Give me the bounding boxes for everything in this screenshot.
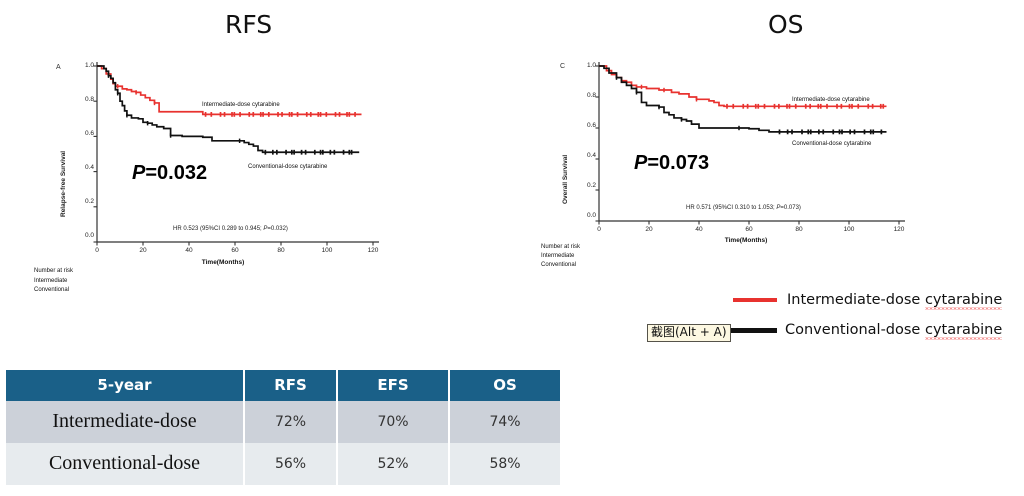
x-tick-6: 100 (840, 226, 858, 233)
risk-row-label-conventional-rfs: Conventional (34, 287, 69, 293)
p-number: =0.032 (145, 162, 207, 184)
risk-row-label-conventional-os: Conventional (541, 262, 576, 268)
p-number: =0.073 (647, 152, 709, 174)
legend-line-red-icon (733, 298, 777, 302)
chart-title-os: OS (768, 10, 804, 39)
table-cell-os: 58% (449, 443, 560, 485)
table-header-5-year: 5-year (6, 370, 244, 401)
table-cell-row-label: Conventional-dose (6, 443, 244, 485)
curve-label-intermediate-rfs: Intermediate-dose cytarabine (202, 102, 280, 108)
x-tick-4: 60 (740, 226, 758, 233)
hr-main: HR 0.571 (95%CI 0.310 to 1.053; (686, 205, 776, 211)
table-row: Intermediate-dose 72% 70% 74% (6, 401, 560, 443)
table-header-row: 5-year RFS EFS OS (6, 370, 560, 401)
p-value-rfs: P=0.032 (132, 162, 207, 185)
km-plot-os: C Overall Survival 1.0 0.8 0.6 0.4 0.2 0… (546, 52, 976, 302)
x-tick-7: 120 (890, 226, 908, 233)
x-tick-5: 80 (790, 226, 808, 233)
x-tick-2: 20 (640, 226, 658, 233)
table-cell-rfs: 72% (244, 401, 337, 443)
x-axis-label-rfs: Time(Months) (178, 259, 268, 266)
legend-label-intermediate: Intermediate-dose cytarabine (787, 292, 1002, 308)
five-year-outcomes-table: 5-year RFS EFS OS Intermediate-dose 72% … (6, 370, 560, 485)
table-cell-os: 74% (449, 401, 560, 443)
table-cell-row-label: Intermediate-dose (6, 401, 244, 443)
table-header-efs: EFS (337, 370, 449, 401)
table-cell-efs: 52% (337, 443, 449, 485)
km-plot-rfs: A Relapse-free Survival 1.0 0.8 0.6 0.4 … (48, 52, 468, 302)
hr-main: HR 0.523 (95%CI 0.289 to 0.945; (173, 226, 263, 232)
x-tick-1: 0 (590, 226, 608, 233)
legend-item-conventional: Conventional-dose cytarabine (730, 322, 1002, 338)
x-tick-1: 0 (88, 247, 106, 254)
x-tick-2: 20 (134, 247, 152, 254)
hr-p-rest: =0.073) (780, 205, 801, 211)
table-row: Conventional-dose 56% 52% 58% (6, 443, 560, 485)
table-cell-efs: 70% (337, 401, 449, 443)
curve-label-conventional-os: Conventional-dose cytarabine (792, 141, 871, 147)
screenshot-shortcut-tooltip: 截图(Alt + A) (647, 324, 731, 342)
p-value-os: P=0.073 (634, 152, 709, 175)
p-italic: P (634, 152, 647, 174)
x-axis-label-os: Time(Months) (701, 237, 791, 244)
p-italic: P (132, 162, 145, 184)
curve-label-conventional-rfs: Conventional-dose cytarabine (248, 164, 327, 170)
hr-p-rest: =0.032) (267, 226, 288, 232)
legend-line-black-icon (730, 328, 777, 333)
risk-row-label-intermediate-os: Intermediate (541, 253, 574, 259)
table-header-os: OS (449, 370, 560, 401)
table-header-rfs: RFS (244, 370, 337, 401)
x-tick-3: 40 (690, 226, 708, 233)
hr-text-rfs: HR 0.523 (95%CI 0.289 to 0.945; P=0.032) (173, 226, 288, 232)
risk-row-label-intermediate-rfs: Intermediate (34, 278, 67, 284)
km-curves-os (546, 52, 976, 302)
curve-label-intermediate-os: Intermediate-dose cytarabine (792, 97, 870, 103)
x-tick-5: 80 (272, 247, 290, 254)
risk-title-rfs: Number at risk (34, 268, 73, 274)
chart-title-rfs: RFS (225, 10, 272, 39)
x-tick-3: 40 (180, 247, 198, 254)
legend-label-conventional: Conventional-dose cytarabine (785, 322, 1002, 338)
table-cell-rfs: 56% (244, 443, 337, 485)
x-tick-6: 100 (318, 247, 336, 254)
x-tick-7: 120 (364, 247, 382, 254)
hr-text-os: HR 0.571 (95%CI 0.310 to 1.053; P=0.073) (686, 205, 801, 211)
x-tick-4: 60 (226, 247, 244, 254)
legend-item-intermediate: Intermediate-dose cytarabine (733, 292, 1002, 308)
risk-title-os: Number at risk (541, 244, 580, 250)
